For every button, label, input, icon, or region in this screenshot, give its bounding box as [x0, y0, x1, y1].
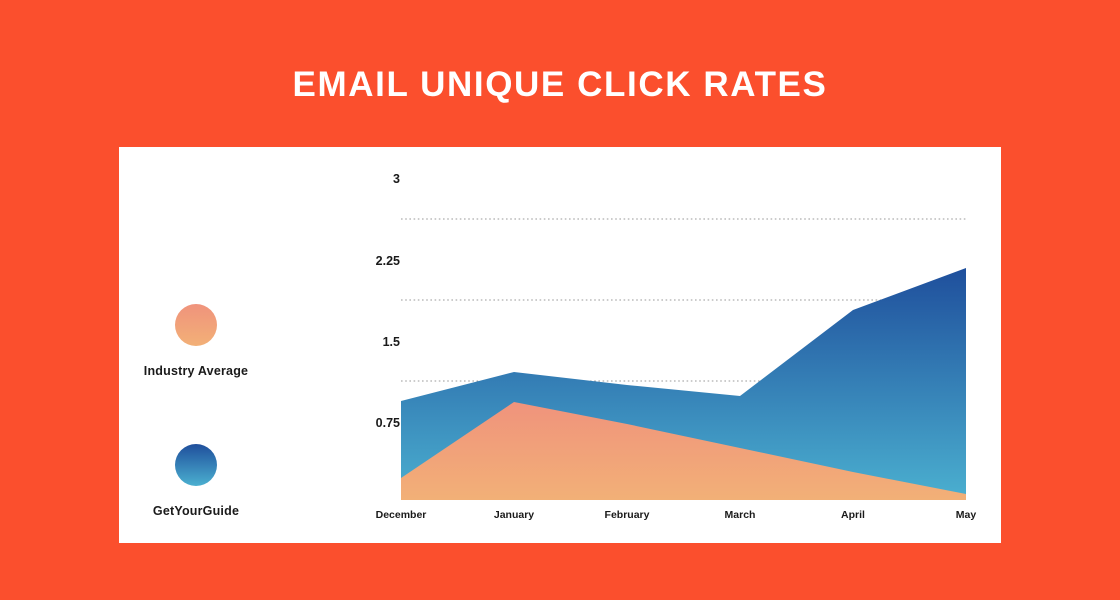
x-tick-label-february: February [572, 509, 682, 521]
x-tick-label-april: April [798, 509, 908, 521]
legend-item-getyourguide[interactable]: GetYourGuide [86, 444, 306, 520]
x-tick-label-march: March [685, 509, 795, 521]
page-title: Email Unique Click Rates [0, 66, 1120, 105]
legend-swatch-getyourguide-icon [175, 444, 217, 486]
legend-item-industry-average[interactable]: Industry Average [86, 304, 306, 380]
x-tick-label-may: May [911, 509, 1021, 521]
legend-label-industry-average: Industry Average [144, 364, 248, 378]
legend-label-getyourguide: GetYourGuide [153, 504, 239, 518]
chart-legend: Industry Average GetYourGuide [119, 147, 419, 543]
legend-swatch-industry-average-icon [175, 304, 217, 346]
chart-card: 3 2.25 1.5 0.75 December January Februar… [119, 147, 1001, 543]
x-tick-label-january: January [459, 509, 569, 521]
